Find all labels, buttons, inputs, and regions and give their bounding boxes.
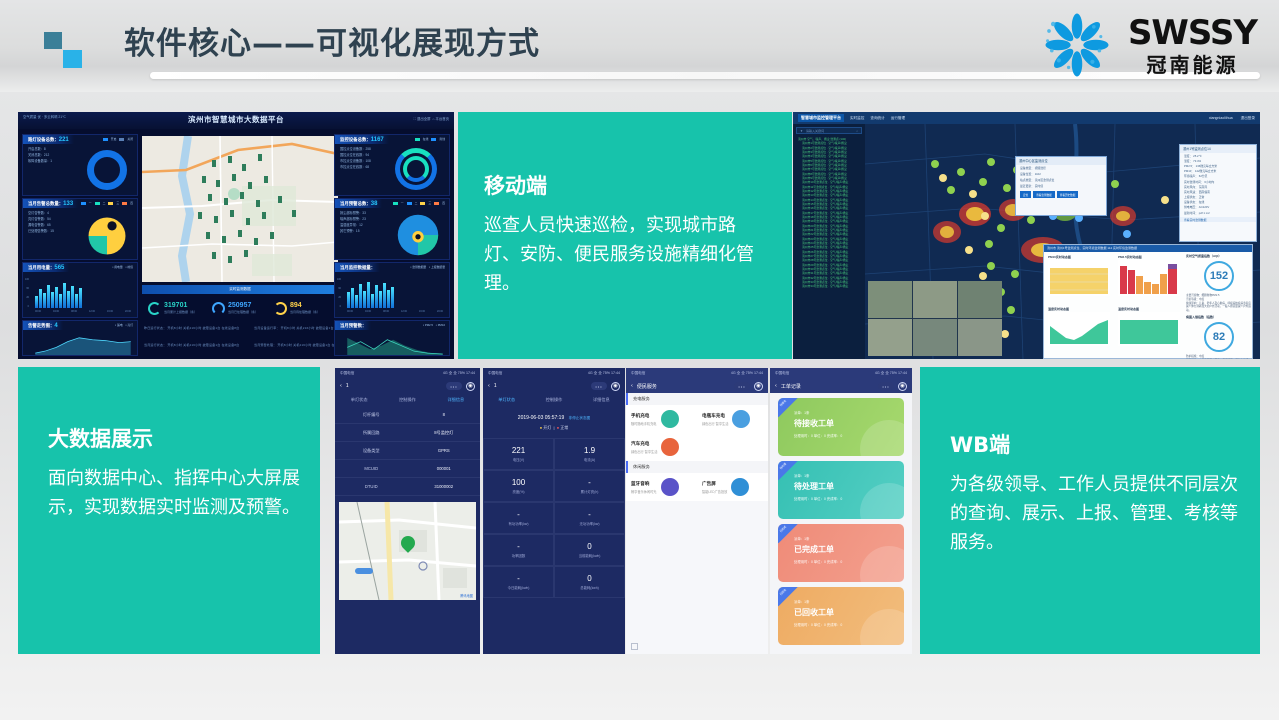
gis-menu-ops[interactable]: 运行管理 bbox=[891, 116, 905, 121]
bar-chart-xaxis: 00:0004:0008:0012:0016:0020:00 bbox=[35, 310, 131, 313]
status-flags: ● 开灯 | ● 正常 bbox=[483, 425, 625, 438]
phone-title: 1 bbox=[494, 383, 497, 389]
panel-legend: ▪ 监测数据量▪ 上报数据量 bbox=[410, 265, 445, 269]
metric-unit: 电流(A) bbox=[584, 457, 595, 462]
detail-row: MCUID000001 bbox=[335, 460, 480, 478]
aqi-block: 实时空气质量指数（AQI） 152 主要污染物：细颗粒物PM2.5 污染等级：中… bbox=[1186, 254, 1252, 359]
panel-legend: ▪ PM2.5▪ PM10 bbox=[423, 323, 445, 327]
workorder-card-list[interactable]: 待接收派单：1条待接收工单处理用时：0 单位：0 完成率：0待处理派单：1条待处… bbox=[770, 398, 912, 645]
detail-row-key: MCUID bbox=[335, 466, 408, 471]
gis-map[interactable]: 滨州中心区监测点位 设备类型： 视频监控 设备位置： 1102 站点类型： 滨州… bbox=[865, 124, 1260, 359]
metric-cell: -有功功率(kw) bbox=[483, 502, 554, 534]
header-square-decoration bbox=[44, 32, 88, 68]
service-item-name: 广告屏 bbox=[702, 481, 727, 487]
dashboard-center-bar: 实时监测数据 bbox=[142, 285, 338, 294]
services-body: 充电服务手机充电随时随地手机充电电瓶车充电绿色出行 智享生活汽车充电绿色出行 智… bbox=[626, 393, 768, 501]
dashboard-title: 滨州市智慧城市大数据平台 bbox=[18, 114, 454, 125]
service-grid: 蓝牙音响畅享音乐休闲时光广告屏智能LED广告投放 bbox=[626, 473, 768, 501]
panel-legend: 一二 三四 bbox=[393, 201, 445, 205]
map-credit: 腾讯地图 bbox=[460, 593, 473, 598]
workorder-meta: 派单：1条 bbox=[794, 473, 904, 478]
service-item-name: 电瓶车充电 bbox=[702, 413, 728, 419]
detail-row-value: GPRS bbox=[408, 448, 481, 453]
dashboard-city-map[interactable] bbox=[142, 136, 338, 282]
chart-pm25: PM2.5实时动态图 bbox=[1118, 255, 1180, 301]
chart-pm10: PM10实时动态图 bbox=[1048, 255, 1110, 301]
aqi-notes: 主要污染物：细颗粒物PM2.5 污染等级：中度 健康影响：儿童、老年人及心脏病、… bbox=[1186, 294, 1252, 313]
car-charge-icon bbox=[661, 438, 679, 456]
panel-legend: 一二 三四 bbox=[81, 201, 133, 205]
phone-title: 1 bbox=[346, 383, 349, 389]
card-mobile-body: 巡查人员快速巡检，实现城市路灯、安防、便民服务设施精细化管理。 bbox=[484, 211, 768, 298]
metric-cell: 0当前能耗(kwh) bbox=[554, 534, 625, 566]
panel-header: 当月用电量：565 bbox=[23, 263, 69, 272]
service-item[interactable]: 手机充电随时随地手机充电 bbox=[626, 405, 697, 433]
panel-header: 当月监控数据量： bbox=[335, 263, 380, 272]
detail-row-value: 8 bbox=[408, 412, 481, 417]
card-mobile: 移动端 巡查人员快速巡检，实现城市路灯、安防、便民服务设施精细化管理。 bbox=[458, 112, 792, 359]
stat-ring-1 bbox=[148, 302, 161, 315]
service-item[interactable]: 广告屏智能LED广告投放 bbox=[697, 473, 768, 501]
card-web-title: WB端 bbox=[950, 429, 1240, 459]
panel-warning-trend: 当月预警数： ▪ PM2.5▪ PM10 bbox=[334, 320, 450, 356]
donut-chart bbox=[87, 150, 127, 190]
metric-unit: 累计灯亮(h) bbox=[581, 489, 599, 494]
metric-value: - bbox=[517, 574, 520, 583]
popup-view-data-button[interactable]: 查看监测数据 bbox=[1033, 191, 1055, 198]
metric-value: - bbox=[588, 510, 591, 519]
temperature-area bbox=[1118, 312, 1180, 346]
metric-value: - bbox=[517, 510, 520, 519]
card-web-body: 为各级领导、工作人员提供不同层次的查询、展示、上报、管理、考核等服务。 bbox=[950, 470, 1240, 557]
aqi-second-value: 82 bbox=[1204, 322, 1234, 352]
more-dots-icon[interactable]: ••• bbox=[878, 382, 894, 390]
phone-statusbar: 中国电信4G 全 全 75% 17:44 bbox=[483, 368, 625, 379]
gis-brand: 智慧城市监控管理平台 bbox=[798, 114, 844, 122]
bar-chart bbox=[35, 279, 82, 308]
phone-navbar: ‹ 1 ••• ◉ bbox=[483, 379, 625, 393]
gis-tree-children[interactable]: 滨州市1号监测点位 · 空气/噪声/扬尘滨州市2号监测点位 · 空气/噪声/扬尘… bbox=[798, 141, 862, 288]
gis-camera-grid[interactable] bbox=[868, 281, 1002, 356]
workorder-card[interactable]: 已完成派单：1条已完成工单处理用时：0 单位：0 完成率：0 bbox=[778, 524, 904, 582]
tab-light-status[interactable]: 单灯状态 bbox=[335, 397, 383, 403]
detail-row-value: 8号监控灯 bbox=[408, 430, 481, 436]
phone-charge-icon bbox=[661, 410, 679, 428]
metric-value: - bbox=[588, 478, 591, 487]
area-chart bbox=[345, 334, 445, 355]
panel-header: 监控设备总数：1167 bbox=[335, 135, 389, 144]
panel-legend: ▪ 漏电▪ 亮灯 bbox=[115, 323, 133, 327]
gis-menu-query[interactable]: 查询统计 bbox=[870, 116, 884, 121]
panel-kv-list: 扬尘超标预警：33 噪声超标预警：23 温湿度异常：12 其它预警：15 bbox=[340, 211, 366, 235]
phone-navbar: ‹ 1 ••• ◉ bbox=[335, 379, 480, 393]
panel-header: 告警走势图：4 bbox=[23, 321, 63, 330]
back-chevron-icon[interactable]: ‹ bbox=[340, 383, 342, 389]
area-chart bbox=[33, 334, 133, 355]
water-drop-flower-icon bbox=[1036, 10, 1118, 80]
service-item-desc: 绿色出行 智享生活 bbox=[702, 421, 728, 426]
logo-subtitle: 冠南能源 bbox=[1146, 55, 1238, 75]
logo-wordmark: SWSSY bbox=[1128, 16, 1257, 50]
back-chevron-icon[interactable]: ‹ bbox=[488, 383, 490, 389]
filter-icon: ▼ bbox=[800, 129, 803, 133]
panel-monthly-power: 当月用电量：565 ▪ 用电量▪ 峰值 10060200 00:0004:000… bbox=[22, 262, 138, 318]
pm25-bar bbox=[1118, 260, 1180, 296]
dashboard-topright-actions[interactable]: ⛶ 退出全屏 ⌂ 平台首页 bbox=[414, 116, 449, 121]
big-stat-2: 250957 当月已处理数据（条） bbox=[228, 302, 258, 314]
aqi-second-notes: 防护措施：中度 温湿适宜：人员密集区少开窗，保持通风，避免交叉感染。 bbox=[1186, 355, 1252, 359]
popup-locate-button[interactable]: 定位 bbox=[1020, 191, 1031, 198]
camera-tile[interactable] bbox=[958, 281, 1002, 318]
panel-warning-total: 当月预警总数：38 一二 三四 扬尘超标预警：33 噪声超标预警：23 温湿度异… bbox=[334, 198, 450, 260]
camera-tile[interactable] bbox=[868, 281, 912, 318]
card-bigdata-title: 大数据展示 bbox=[48, 423, 300, 453]
card-web: WB端 为各级领导、工作人员提供不同层次的查询、展示、上报、管理、考核等服务。 bbox=[920, 367, 1260, 654]
metric-value: 100 bbox=[512, 478, 525, 487]
humidity-area bbox=[1048, 312, 1110, 346]
search-input[interactable]: 请输入关键词 bbox=[806, 129, 824, 133]
gis-user[interactable]: xiangniaoliihua bbox=[1209, 116, 1233, 121]
gis-tree[interactable]: 滨州市 空气、噪声、扬尘 监测点 (132) 滨州市1号监测点位 · 空气/噪声… bbox=[796, 137, 862, 288]
info-panel-rows: 温度： 25.2℃湿度： 73.4%PM2.5： 136微克每立方米PM10： … bbox=[1180, 153, 1256, 215]
pm10-area bbox=[1048, 260, 1110, 296]
back-chevron-icon[interactable]: ‹ bbox=[775, 383, 777, 389]
panel-header: 当月预警数： bbox=[335, 321, 371, 330]
ebike-charge-icon bbox=[732, 410, 750, 428]
detail-row-key: DTUID bbox=[335, 484, 408, 489]
panel-alarm-trend: 告警走势图：4 ▪ 漏电▪ 亮灯 bbox=[22, 320, 138, 356]
phone-title: 工单记录 bbox=[781, 383, 801, 390]
metric-cell: -功率因数 bbox=[483, 534, 554, 566]
donut-chart-inner bbox=[403, 156, 429, 182]
aqi-second-title: 病菌入侵指数（指数） bbox=[1186, 315, 1252, 319]
dashboard-footnote-1: 昨日运行状态： 开机8小时 关机216小时 故障设备1台 在线设备8台 bbox=[144, 326, 239, 330]
company-logo: SWSSY 冠南能源 bbox=[1036, 8, 1257, 82]
gis-menu-realtime[interactable]: 实时监控 bbox=[850, 116, 864, 121]
service-section-header: 充电服务 bbox=[626, 393, 768, 405]
chart-temperature: 温度实时动态图 bbox=[1118, 307, 1180, 351]
phone-screenshot-status: 中国电信4G 全 全 75% 17:44 ‹ 1 ••• ◉ 单灯状态 控制操作… bbox=[483, 368, 625, 654]
panel-kv-list: 国控点位设备数：258 国控点位在线数：94 市控点位设备数：108 市控点位在… bbox=[340, 147, 371, 171]
workorder-meta: 派单：1条 bbox=[794, 599, 904, 604]
detail-row-value: 000001 bbox=[408, 466, 481, 471]
stat-ring-2 bbox=[212, 302, 225, 315]
workorder-meta: 派单：1条 bbox=[794, 536, 904, 541]
dashboard-footnote-3: 当月运行状态： 开机8小时 关机216小时 故障设备1台 在线设备8台 bbox=[144, 343, 239, 347]
big-stat-3: 894 当月待处理数据（条） bbox=[290, 302, 320, 314]
bigdata-dashboard-screenshot: 空气质量 优 · 多云转晴 21℃ 滨州市智慧城市大数据平台 ⛶ 退出全屏 ⌂ … bbox=[18, 112, 454, 359]
phone-statusbar: 中国电信4G 全 全 75% 17:44 bbox=[335, 368, 480, 379]
info-panel-title: 滨州1号监测点位14 bbox=[1180, 145, 1256, 153]
metric-cell: 1.9电流(A) bbox=[554, 438, 625, 470]
service-item-desc: 畅享音乐休闲时光 bbox=[631, 489, 657, 494]
gis-sidebar: ▼ 请输入关键词 ⌕ 滨州市 空气、噪声、扬尘 监测点 (132) 滨州市1号监… bbox=[793, 124, 865, 359]
metric-unit: 亮度(%) bbox=[512, 489, 524, 494]
home-indicator-icon bbox=[631, 643, 638, 650]
metric-cell: -累计灯亮(h) bbox=[554, 470, 625, 502]
panel-monitor-total: 监控设备总数：1167 在线离线 国控点位设备数：258 国控点位在线数：94 … bbox=[334, 134, 450, 196]
gis-charts-window: 滨州市 滨州1号监测点位、实时环境监测数据 112 实时环境监测数据 PM10实… bbox=[1043, 244, 1253, 359]
bar-chart-xaxis: 00:0004:0008:0012:0016:0020:00 bbox=[347, 310, 443, 313]
detail-row: 灯杆编号8 bbox=[335, 406, 480, 424]
popup-title: 滨州中心区监测点位 bbox=[1016, 157, 1106, 165]
metric-value: 1.9 bbox=[584, 446, 595, 455]
metric-cell: 0总能耗(kwh) bbox=[554, 566, 625, 598]
tab-control[interactable]: 控制操作 bbox=[530, 397, 577, 403]
service-item[interactable]: 蓝牙音响畅享音乐休闲时光 bbox=[626, 473, 697, 501]
panel-legend: 开启关闭 bbox=[103, 137, 133, 141]
service-section-header: 休闲服务 bbox=[626, 461, 768, 473]
search-icon[interactable]: ⌕ bbox=[856, 129, 858, 133]
detail-row: 所属回路8号监控灯 bbox=[335, 424, 480, 442]
gear-icon[interactable]: ◉ bbox=[466, 382, 475, 391]
square-dark-icon bbox=[44, 32, 62, 49]
metric-cell: 221电压(V) bbox=[483, 438, 554, 470]
gis-tree-node[interactable]: 滨州市34号监测点位 · 空气/噪声/扬尘 bbox=[798, 284, 862, 288]
detail-row-key: 灯杆编号 bbox=[335, 412, 408, 418]
detail-row: DTUID31000002 bbox=[335, 478, 480, 496]
panel-header: 当月告警总数量：133 bbox=[23, 199, 78, 208]
popup-history-button[interactable]: 查看历史数据 bbox=[1057, 191, 1079, 198]
back-chevron-icon[interactable]: ‹ bbox=[631, 383, 633, 389]
gear-icon[interactable]: ◉ bbox=[754, 382, 763, 391]
panel-kv-list: 开启总数：8 关闭总数：212 故障设备数量：1 bbox=[28, 147, 52, 165]
info-panel-button[interactable]: 查看实时监测数据 bbox=[1180, 217, 1256, 222]
service-item-name: 汽车充电 bbox=[631, 441, 657, 447]
metric-unit: 功率因数 bbox=[512, 553, 526, 558]
metric-value: 0 bbox=[587, 542, 591, 551]
card-bigdata: 大数据展示 面向数据中心、指挥中心大屏展示，实现数据实时监测及预警。 bbox=[18, 367, 320, 654]
metric-value: - bbox=[517, 542, 520, 551]
tab-control[interactable]: 控制操作 bbox=[383, 397, 431, 403]
more-dots-icon[interactable]: ••• bbox=[591, 382, 607, 390]
map-canvas bbox=[142, 136, 338, 282]
service-item-name: 蓝牙音响 bbox=[631, 481, 657, 487]
gear-icon[interactable]: ◉ bbox=[611, 382, 620, 391]
card-bigdata-body: 面向数据中心、指挥中心大屏展示，实现数据实时监测及预警。 bbox=[48, 464, 300, 522]
aqi-value: 152 bbox=[1204, 261, 1234, 291]
panel-kv-list: 空灯告警数：4 亮灯告警数：54 漏电告警数：65 已处理告警数：15 bbox=[28, 211, 54, 235]
pie-chart bbox=[395, 213, 441, 257]
pie-chart bbox=[85, 215, 129, 257]
gis-logout[interactable]: 退出登录 bbox=[1241, 116, 1255, 121]
info-panel-row: 最新时间： pdf 1 m2 bbox=[1180, 210, 1256, 215]
metric-cell: -无功功率(kw) bbox=[554, 502, 625, 534]
panel-legend: 在线离线 bbox=[415, 137, 445, 141]
metric-unit: 电压(V) bbox=[513, 457, 524, 462]
page-title: 软件核心——可视化展现方式 bbox=[124, 18, 540, 63]
tab-details[interactable]: 详细信息 bbox=[432, 397, 480, 403]
service-item[interactable]: 电瓶车充电绿色出行 智享生活 bbox=[697, 405, 768, 433]
gis-monitoring-screenshot: 智慧城市监控管理平台 实时监控 查询统计 运行管理 xiangniaoliihu… bbox=[793, 112, 1260, 359]
chart-humidity: 湿度实时动态图 bbox=[1048, 307, 1110, 351]
phone-statusbar: 中国电信4G 全 全 75% 17:44 bbox=[770, 368, 912, 379]
phone-map[interactable]: 腾讯地图 bbox=[339, 502, 476, 600]
square-blue-icon bbox=[63, 50, 82, 68]
panel-legend: ▪ 用电量▪ 峰值 bbox=[112, 265, 133, 269]
metric-unit: 今日能耗(kwh) bbox=[508, 585, 530, 590]
metric-cell: -今日能耗(kwh) bbox=[483, 566, 554, 598]
metric-unit: 当前能耗(kwh) bbox=[579, 553, 601, 558]
phone-screenshot-workorders: 中国电信4G 全 全 75% 17:44 ‹ 工单记录 ••• ◉ 待接收派单：… bbox=[770, 368, 912, 654]
gis-navbar: 智慧城市监控管理平台 实时监控 查询统计 运行管理 xiangniaoliihu… bbox=[793, 112, 1260, 124]
panel-alarm-total: 当月告警总数量：133 一二 三四 空灯告警数：4 亮灯告警数：54 漏电告警数… bbox=[22, 198, 138, 260]
panel-monitor-volume: 当月监控数据量： ▪ 监测数据量▪ 上报数据量 10060200 00:0004… bbox=[334, 262, 450, 318]
phone-screenshot-services: 中国电信4G 全 全 75% 17:44 ‹ 便民服务 ••• ◉ 充电服务手机… bbox=[626, 368, 768, 654]
bar-chart-yaxis: 10060200 bbox=[337, 278, 341, 308]
service-item-desc: 随时随地手机充电 bbox=[631, 421, 657, 426]
service-item-desc: 绿色出行 智享生活 bbox=[631, 449, 657, 454]
more-dots-icon[interactable]: ••• bbox=[734, 382, 750, 390]
stat-ring-3 bbox=[274, 302, 287, 315]
camera-tile[interactable] bbox=[868, 319, 912, 356]
workorder-card[interactable]: 待接收派单：1条待接收工单处理用时：0 单位：0 完成率：0 bbox=[778, 398, 904, 456]
phone-tabs[interactable]: 单灯状态 控制操作 详细信息 bbox=[483, 393, 625, 406]
tab-details[interactable]: 详细信息 bbox=[578, 397, 625, 403]
workorder-card[interactable]: 已回收派单：1条已回收工单处理用时：0 单位：0 完成率：0 bbox=[778, 587, 904, 645]
panel-light-total: 路灯设备总数：221 开启关闭 开启总数：8 关闭总数：212 故障设备数量：1 bbox=[22, 134, 138, 196]
panel-header: 当月预警总数：38 bbox=[335, 199, 382, 208]
camera-tile[interactable] bbox=[913, 281, 957, 318]
charts-window-title: 滨州市 滨州1号监测点位、实时环境监测数据 112 实时环境监测数据 bbox=[1044, 245, 1252, 252]
gis-search-box[interactable]: ▼ 请输入关键词 ⌕ bbox=[796, 127, 862, 134]
phone-navbar: ‹ 工单记录 ••• ◉ bbox=[770, 379, 912, 393]
metric-unit: 总能耗(kwh) bbox=[580, 585, 598, 590]
camera-tile[interactable] bbox=[958, 319, 1002, 356]
metric-unit: 无功功率(kw) bbox=[580, 521, 600, 526]
ad-screen-icon bbox=[731, 478, 749, 496]
panel-header: 路灯设备总数：221 bbox=[23, 135, 74, 144]
metric-unit: 有功功率(kw) bbox=[509, 521, 529, 526]
phone-tabs[interactable]: 单灯状态 控制操作 详细信息 bbox=[335, 393, 480, 406]
service-item-desc: 智能LED广告投放 bbox=[702, 489, 727, 494]
detail-row-key: 所属回路 bbox=[335, 430, 408, 436]
gis-site-popup[interactable]: 滨州中心区监测点位 设备类型： 视频监控 设备位置： 1102 站点类型： 滨州… bbox=[1015, 156, 1107, 216]
service-grid: 手机充电随时随地手机充电电瓶车充电绿色出行 智享生活汽车充电绿色出行 智享生活 bbox=[626, 405, 768, 461]
service-item[interactable]: 汽车充电绿色出行 智享生活 bbox=[626, 433, 697, 461]
metric-cell: 100亮度(%) bbox=[483, 470, 554, 502]
bluetooth-speaker-icon bbox=[661, 478, 679, 496]
phone-title: 便民服务 bbox=[637, 383, 657, 390]
big-stat-1: 319701 当月累计上报数据（条） bbox=[164, 302, 197, 314]
gear-icon[interactable]: ◉ bbox=[898, 382, 907, 391]
phone-screenshot-detail: 中国电信4G 全 全 75% 17:44 ‹ 1 ••• ◉ 单灯状态 控制操作… bbox=[335, 368, 480, 654]
more-dots-icon[interactable]: ••• bbox=[446, 382, 462, 390]
bar-chart-yaxis: 10060200 bbox=[25, 278, 29, 308]
phone-statusbar: 中国电信4G 全 全 75% 17:44 bbox=[626, 368, 768, 379]
card-mobile-title: 移动端 bbox=[484, 170, 768, 200]
detail-row: 设备类型GPRS bbox=[335, 442, 480, 460]
metric-value: 0 bbox=[587, 574, 591, 583]
metric-grid: 221电压(V)1.9电流(A)100亮度(%)-累计灯亮(h)-有功功率(kw… bbox=[483, 438, 625, 598]
bar-chart bbox=[347, 279, 394, 308]
detail-rows: 灯杆编号8所属回路8号监控灯设备类型GPRSMCUID000001DTUID31… bbox=[335, 406, 480, 496]
gis-info-panel[interactable]: 滨州1号监测点位14 温度： 25.2℃湿度： 73.4%PM2.5： 136微… bbox=[1179, 144, 1257, 242]
camera-tile[interactable] bbox=[913, 319, 957, 356]
detail-row-key: 设备类型 bbox=[335, 448, 408, 454]
phone-navbar: ‹ 便民服务 ••• ◉ bbox=[626, 379, 768, 393]
metric-value: 221 bbox=[512, 446, 525, 455]
workorder-card[interactable]: 待处理派单：1条待处理工单处理用时：0 单位：0 完成率：0 bbox=[778, 461, 904, 519]
status-timestamp: 2019-06-03 05:57:19 非停止状态图 bbox=[483, 406, 625, 425]
tab-light-status[interactable]: 单灯状态 bbox=[483, 397, 530, 403]
detail-row-value: 31000002 bbox=[408, 484, 481, 489]
slide-header: 软件核心——可视化展现方式 bbox=[0, 0, 1279, 92]
service-item-name: 手机充电 bbox=[631, 413, 657, 419]
workorder-meta: 派单：1条 bbox=[794, 410, 904, 415]
